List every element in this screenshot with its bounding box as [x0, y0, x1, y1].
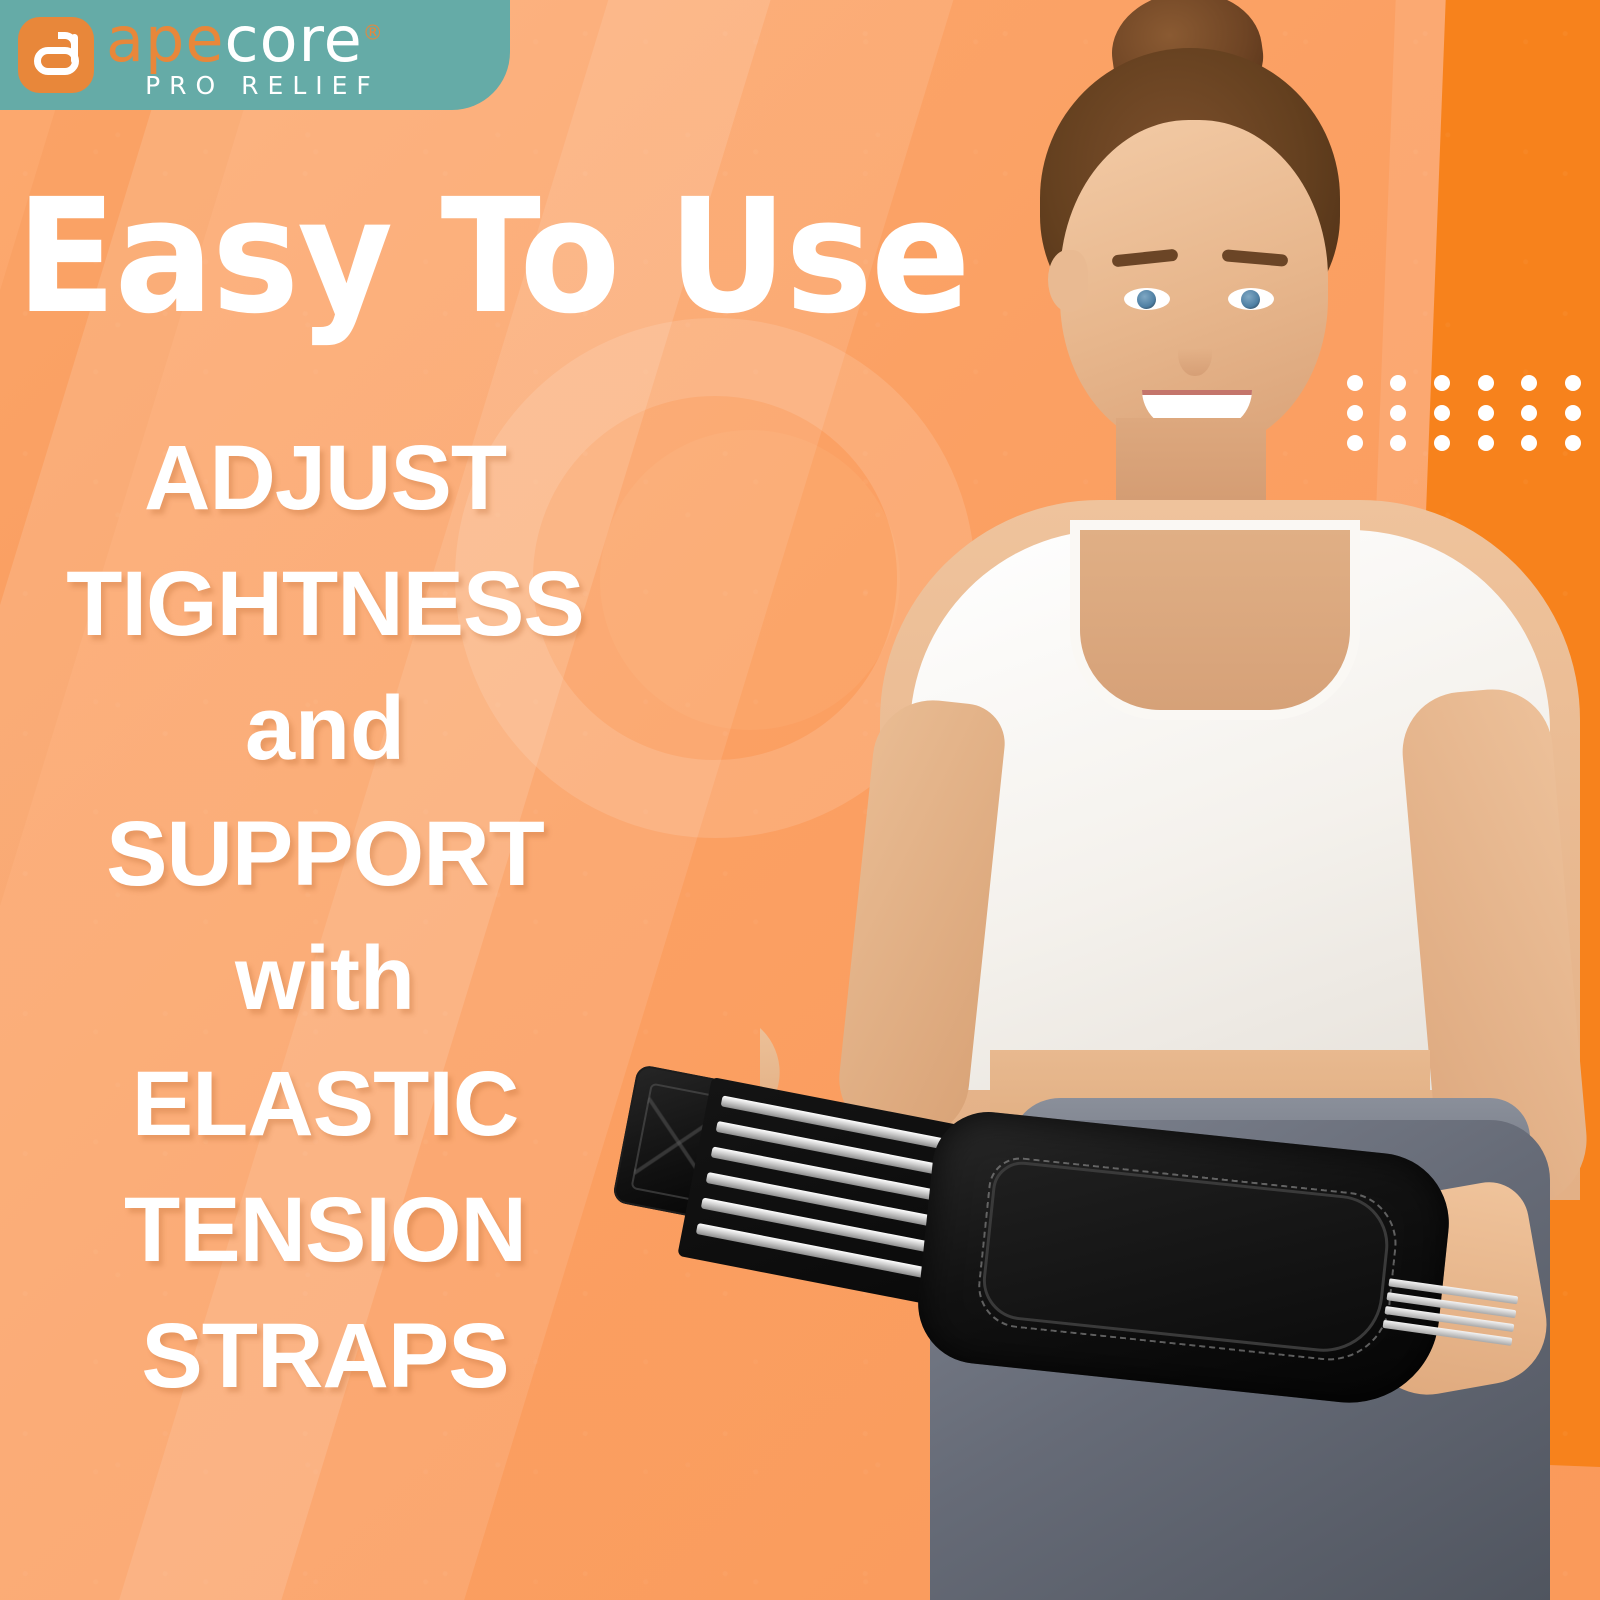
- brand-name-part-1: ape: [106, 3, 225, 76]
- brand-logo-panel: apecore® PRO RELIEF: [0, 0, 510, 110]
- dot-grid-pattern: [1333, 368, 1595, 458]
- brand-name-part-2: core: [225, 3, 363, 76]
- brand-tagline: PRO RELIEF: [106, 71, 384, 100]
- copy-line: and: [0, 684, 650, 774]
- registered-trademark-icon: ®: [363, 20, 384, 44]
- copy-line: SUPPORT: [0, 808, 650, 900]
- apecore-a-icon: [18, 17, 94, 93]
- copy-line: ELASTIC: [0, 1058, 650, 1150]
- copy-line: STRAPS: [0, 1310, 650, 1402]
- main-lumbar-pad: [912, 1107, 1455, 1412]
- brand-wordmark: apecore® PRO RELIEF: [106, 10, 384, 101]
- feature-copy-block: ADJUST TIGHTNESS and SUPPORT with ELASTI…: [0, 432, 650, 1436]
- page-title: Easy To Use: [16, 178, 969, 336]
- lower-back-brace-belt: [594, 1055, 1434, 1385]
- copy-line: ADJUST: [0, 432, 650, 524]
- copy-line: with: [0, 934, 650, 1024]
- copy-line: TIGHTNESS: [0, 558, 650, 650]
- brand-name: apecore®: [106, 10, 384, 70]
- product-marketing-image: apecore® PRO RELIEF Easy To Use ADJUST T…: [0, 0, 1600, 1600]
- copy-line: TENSION: [0, 1184, 650, 1276]
